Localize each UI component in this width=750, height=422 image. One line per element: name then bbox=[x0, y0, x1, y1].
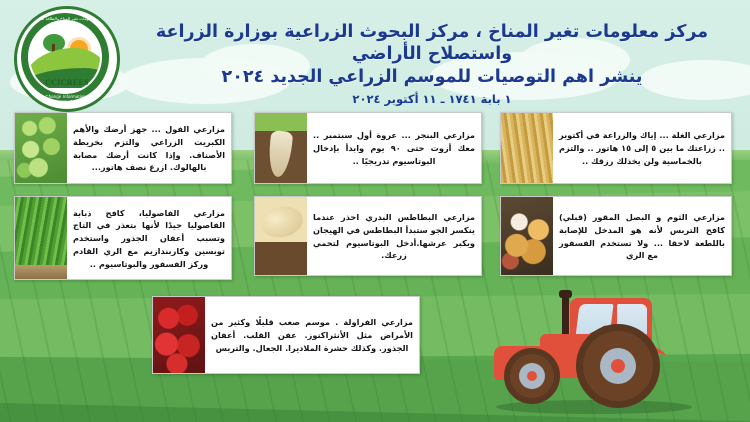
advice-card-strawberry[interactable]: مزارعي الفراولة . موسم صعب قليلًا وكثير … bbox=[152, 296, 420, 374]
poster-canvas: مركز معلومات تغير المناخ والطاقة المتجدد… bbox=[0, 0, 750, 422]
advice-card-fava[interactable]: مزارعي الفول ... جهز أرضك والأهم الكبريت… bbox=[14, 112, 232, 184]
page-title-line-1: مركز معلومات تغير المناخ ، مركز البحوث ا… bbox=[118, 22, 746, 66]
potato-photo bbox=[255, 197, 307, 275]
ccicrees-logo: مركز معلومات تغير المناخ والطاقة المتجدد… bbox=[14, 6, 120, 112]
advice-text: مزارعي البنجر ... عروة أول سبتمبر .. معك… bbox=[307, 113, 481, 183]
poster-header: مركز معلومات تغير المناخ ، مركز البحوث ا… bbox=[118, 22, 746, 106]
sugar-beet-photo bbox=[255, 113, 307, 183]
advice-text: مزارعي الفراولة . موسم صعب قليلًا وكثير … bbox=[205, 297, 419, 373]
logo-acronym: CCICREES bbox=[17, 78, 117, 87]
advice-card-beet[interactable]: مزارعي البنجر ... عروة أول سبتمبر .. معك… bbox=[254, 112, 482, 184]
exhaust-cap-icon bbox=[559, 290, 572, 298]
advice-card-garlic-onion[interactable]: مزارعي الثوم و البصل المقور (قبلي) كافح … bbox=[500, 196, 732, 276]
page-title-line-2: ينشر اهم التوصيات للموسم الزراعي الجديد … bbox=[118, 67, 746, 89]
advice-text: مزارعي البطاطس البدري احذر عندما ينكسر ا… bbox=[307, 197, 481, 275]
advice-text: مزارعي الغلة ... إياك والزراعة في أكتوبر… bbox=[553, 113, 731, 183]
advice-card-green-beans[interactable]: مزارعي الفاصوليا، كافح ذبابة الفاصوليا ج… bbox=[14, 196, 232, 280]
green-beans-photo bbox=[15, 197, 67, 279]
wheat-ears-photo bbox=[501, 113, 553, 183]
strawberry-photo bbox=[153, 297, 205, 373]
advice-text: مزارعي الفول ... جهز أرضك والأهم الكبريت… bbox=[67, 113, 231, 183]
publication-date: ١ بابة ١٧٤١ ـ ١١ أكتوبر ٢٠٢٤ bbox=[118, 92, 746, 106]
front-hub-center-icon bbox=[527, 371, 537, 381]
advice-text: مزارعي الفاصوليا، كافح ذبابة الفاصوليا ج… bbox=[67, 197, 231, 279]
red-tractor-illustration bbox=[478, 290, 708, 418]
rear-hub-center-icon bbox=[611, 359, 625, 373]
logo-arabic-arc-text: مركز معلومات تغير المناخ والطاقة المتجدد… bbox=[17, 16, 117, 21]
advice-card-wheat[interactable]: مزارعي الغلة ... إياك والزراعة في أكتوبر… bbox=[500, 112, 732, 184]
fava-beans-photo bbox=[15, 113, 67, 183]
logo-english-arc-text: Climate Change Information Center & Rene… bbox=[17, 94, 117, 104]
advice-text: مزارعي الثوم و البصل المقور (قبلي) كافح … bbox=[553, 197, 731, 275]
onion-garlic-photo bbox=[501, 197, 553, 275]
advice-card-potato[interactable]: مزارعي البطاطس البدري احذر عندما ينكسر ا… bbox=[254, 196, 482, 276]
